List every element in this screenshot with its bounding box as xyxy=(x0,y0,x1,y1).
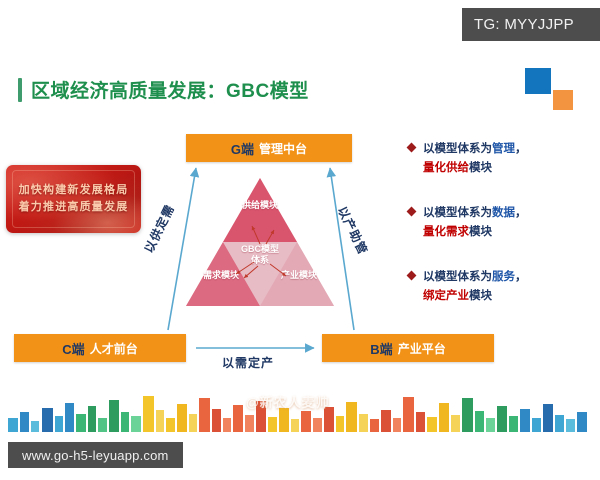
node-b-name: 产业平台 xyxy=(398,340,446,357)
node-b-tag: B端 xyxy=(370,339,392,358)
bullet-list: 以模型体系为管理， 量化供给模块 以模型体系为数据， 量化需求模块 以模型体系为… xyxy=(408,140,594,332)
bullet-1-prefix: 以模型体系为 xyxy=(423,143,492,155)
tg-overlay-banner: TG: MYYJJPP xyxy=(462,8,600,41)
page-title: 区域经济高质量发展：GBC模型 xyxy=(18,76,309,103)
node-g-name: 管理中台 xyxy=(259,140,307,157)
bullet-text-1: 以模型体系为管理， 量化供给模块 xyxy=(423,140,527,178)
bullet-1-strong: 量化供给 xyxy=(423,162,469,174)
node-g-tag: G端 xyxy=(231,139,254,158)
bullet-2-keyword: 数据 xyxy=(492,207,515,219)
bullet-1-comma: ， xyxy=(515,143,527,155)
poster-line-2: 着力推进高质量发展 xyxy=(19,199,129,216)
bullet-3-strong: 绑定产业 xyxy=(423,290,469,302)
diamond-bullet-icon xyxy=(407,270,417,280)
edge-label-industry-manage: 以产助管 xyxy=(334,203,372,257)
bullet-item-3: 以模型体系为服务， 绑定产业模块 xyxy=(408,268,594,306)
edge-label-demand-produce: 以需定产 xyxy=(222,354,274,371)
decor-square-blue-icon xyxy=(525,68,551,94)
title-accent-bar xyxy=(18,78,22,102)
node-c-talent-frontend[interactable]: C端 人才前台 xyxy=(14,334,186,362)
bullet-1-suffix: 模块 xyxy=(469,162,492,174)
bullet-2-prefix: 以模型体系为 xyxy=(423,207,492,219)
triangle-inner-arrows xyxy=(186,178,334,323)
bullet-2-comma: ， xyxy=(515,207,527,219)
weibo-watermark: @新农人麦帅 xyxy=(246,392,330,411)
red-slogan-poster: 加快构建新发展格局 着力推进高质量发展 xyxy=(6,165,141,233)
bullet-3-suffix: 模块 xyxy=(469,290,492,302)
bullet-text-2: 以模型体系为数据， 量化需求模块 xyxy=(423,204,527,242)
title-text: 区域经济高质量发展：GBC模型 xyxy=(31,76,309,103)
bullet-text-3: 以模型体系为服务， 绑定产业模块 xyxy=(423,268,527,306)
url-overlay-banner: www.go-h5-leyuapp.com xyxy=(8,442,183,468)
url-banner-text: www.go-h5-leyuapp.com xyxy=(22,448,169,463)
bullet-2-strong: 量化需求 xyxy=(423,226,469,238)
diamond-bullet-icon xyxy=(407,143,417,153)
poster-line-1: 加快构建新发展格局 xyxy=(19,182,129,199)
edge-label-supply-demand: 以供定需 xyxy=(140,201,178,255)
node-c-tag: C端 xyxy=(62,339,84,358)
gbc-triangle: 供给模块 GBC模型体系 需求模块 产业模块 xyxy=(186,178,334,323)
slide-canvas: TG: MYYJJPP 区域经济高质量发展：GBC模型 加快构建新发展格局 着力… xyxy=(0,0,600,480)
node-c-name: 人才前台 xyxy=(90,340,138,357)
bullet-3-prefix: 以模型体系为 xyxy=(423,271,492,283)
tg-banner-text: TG: MYYJJPP xyxy=(474,16,574,33)
bullet-item-2: 以模型体系为数据， 量化需求模块 xyxy=(408,204,594,242)
bullet-3-comma: ， xyxy=(515,271,527,283)
bullet-1-keyword: 管理 xyxy=(492,143,515,155)
node-b-industry-platform[interactable]: B端 产业平台 xyxy=(322,334,494,362)
diamond-bullet-icon xyxy=(407,206,417,216)
bullet-2-suffix: 模块 xyxy=(469,226,492,238)
bullet-3-keyword: 服务 xyxy=(492,271,515,283)
node-g-management-hub[interactable]: G端 管理中台 xyxy=(186,134,352,162)
bullet-item-1: 以模型体系为管理， 量化供给模块 xyxy=(408,140,594,178)
decor-square-orange-icon xyxy=(553,90,573,110)
